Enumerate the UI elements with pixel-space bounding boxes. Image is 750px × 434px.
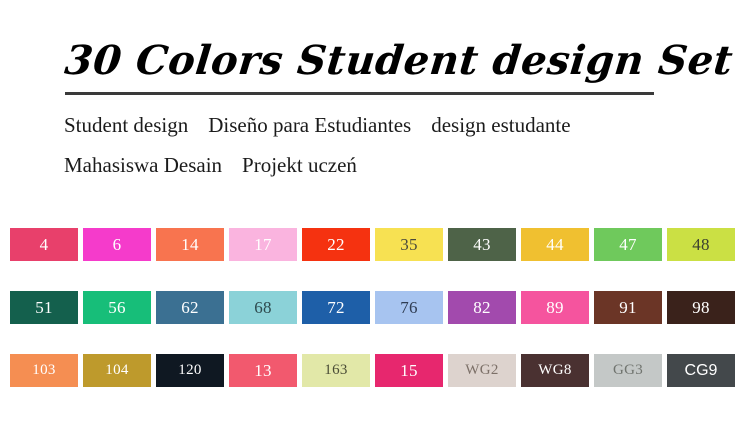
color-swatch-76[interactable]: 76 (375, 291, 443, 324)
color-swatch-22[interactable]: 22 (302, 228, 370, 261)
subtitle-segment: design estudante (431, 112, 570, 138)
color-swatch-51[interactable]: 51 (10, 291, 78, 324)
swatch-row: 1031041201316315WG2WG8GG3CG9 (10, 354, 740, 387)
swatch-row: 51566268727682899198 (10, 291, 740, 324)
color-swatch-103[interactable]: 103 (10, 354, 78, 387)
title-divider (65, 92, 654, 95)
color-swatch-56[interactable]: 56 (83, 291, 151, 324)
swatch-label: 62 (181, 299, 199, 316)
color-swatch-163[interactable]: 163 (302, 354, 370, 387)
color-swatch-wg8[interactable]: WG8 (521, 354, 589, 387)
swatch-label: GG3 (613, 362, 643, 379)
swatch-label: 72 (327, 299, 345, 316)
swatch-label: 120 (178, 362, 201, 379)
color-swatch-14[interactable]: 14 (156, 228, 224, 261)
swatch-label: 76 (400, 299, 418, 316)
color-swatch-44[interactable]: 44 (521, 228, 589, 261)
swatch-label: 56 (108, 299, 126, 316)
color-swatch-43[interactable]: 43 (448, 228, 516, 261)
swatch-label: 68 (254, 299, 272, 316)
color-swatch-68[interactable]: 68 (229, 291, 297, 324)
swatch-label: 98 (692, 299, 710, 316)
swatch-label: 13 (254, 362, 272, 379)
swatch-label: 91 (619, 299, 637, 316)
color-swatch-gg3[interactable]: GG3 (594, 354, 662, 387)
swatch-label: CG9 (685, 362, 718, 379)
swatch-label: 163 (324, 362, 347, 379)
color-swatch-cg9[interactable]: CG9 (667, 354, 735, 387)
swatch-row: 461417223543444748 (10, 228, 740, 261)
color-swatch-62[interactable]: 62 (156, 291, 224, 324)
color-swatch-89[interactable]: 89 (521, 291, 589, 324)
color-swatch-91[interactable]: 91 (594, 291, 662, 324)
swatch-label: 22 (327, 236, 345, 253)
swatch-label: 47 (619, 236, 637, 253)
subtitle-line-1: Student designDiseño para Estudiantesdes… (64, 112, 571, 138)
color-swatch-15[interactable]: 15 (375, 354, 443, 387)
swatch-label: WG2 (465, 362, 498, 379)
swatch-label: 17 (254, 236, 272, 253)
swatch-label: 82 (473, 299, 491, 316)
swatch-label: 4 (40, 236, 49, 253)
swatch-label: 103 (32, 362, 55, 379)
swatch-label: 43 (473, 236, 491, 253)
color-swatch-grid: 4614172235434447485156626872768289919810… (10, 228, 740, 387)
swatch-label: 51 (35, 299, 53, 316)
color-swatch-82[interactable]: 82 (448, 291, 516, 324)
color-swatch-72[interactable]: 72 (302, 291, 370, 324)
color-swatch-wg2[interactable]: WG2 (448, 354, 516, 387)
color-swatch-35[interactable]: 35 (375, 228, 443, 261)
color-swatch-4[interactable]: 4 (10, 228, 78, 261)
swatch-label: 6 (113, 236, 122, 253)
swatch-label: 48 (692, 236, 710, 253)
swatch-label: 15 (400, 362, 418, 379)
swatch-label: 14 (181, 236, 199, 253)
color-swatch-104[interactable]: 104 (83, 354, 151, 387)
color-swatch-13[interactable]: 13 (229, 354, 297, 387)
subtitle-segment: Diseño para Estudiantes (208, 112, 411, 138)
color-swatch-48[interactable]: 48 (667, 228, 735, 261)
color-set-poster: 30 Colors Student design Set Student des… (0, 0, 750, 434)
color-swatch-6[interactable]: 6 (83, 228, 151, 261)
subtitle-line-2: Mahasiswa DesainProjekt uczeń (64, 152, 357, 178)
swatch-label: WG8 (538, 362, 571, 379)
swatch-label: 89 (546, 299, 564, 316)
swatch-label: 35 (400, 236, 418, 253)
page-title: 30 Colors Student design Set (62, 36, 667, 86)
swatch-label: 104 (105, 362, 128, 379)
color-swatch-120[interactable]: 120 (156, 354, 224, 387)
color-swatch-98[interactable]: 98 (667, 291, 735, 324)
swatch-label: 44 (546, 236, 564, 253)
color-swatch-17[interactable]: 17 (229, 228, 297, 261)
subtitle-segment: Projekt uczeń (242, 152, 357, 178)
subtitle-segment: Student design (64, 112, 188, 138)
subtitle-segment: Mahasiswa Desain (64, 152, 222, 178)
color-swatch-47[interactable]: 47 (594, 228, 662, 261)
